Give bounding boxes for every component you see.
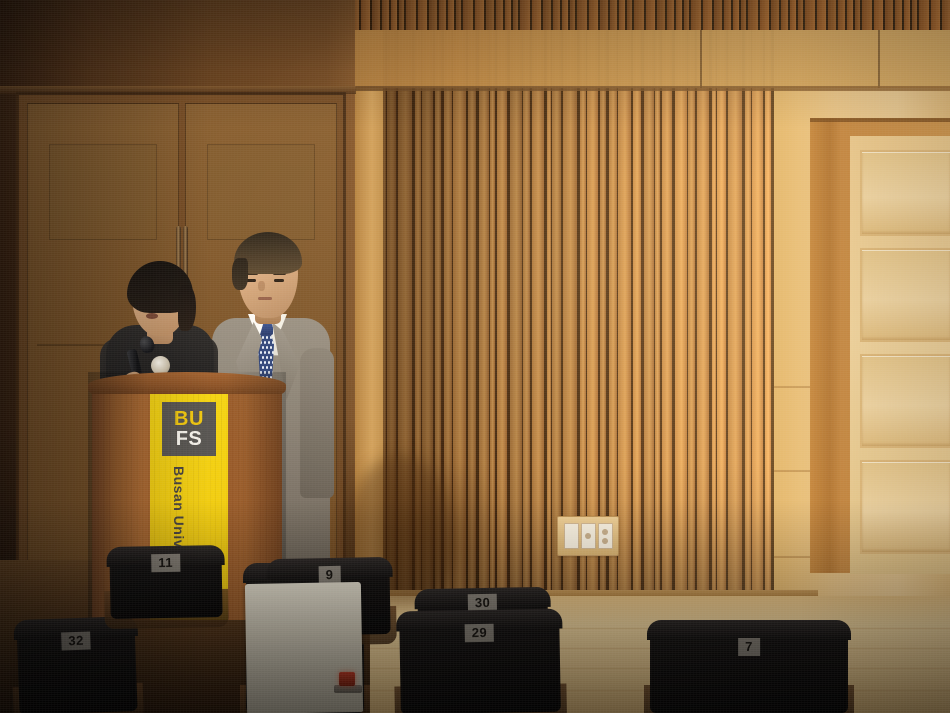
seat-32[interactable]: 32 (16, 618, 137, 713)
right-door-frame (810, 118, 950, 573)
logo-text-bu: BU (174, 409, 204, 429)
door-panel-2 (860, 248, 950, 342)
red-indicator-light (339, 672, 355, 686)
man-eye-right (274, 279, 284, 282)
paper-on-seat (245, 582, 363, 713)
woman-hair-side (178, 285, 196, 331)
woman-mouth (146, 313, 158, 319)
seat-number-plate: 32 (61, 632, 91, 651)
man-sideburn (232, 258, 248, 290)
man-right-arm (300, 348, 334, 498)
light-switch-icon[interactable] (581, 523, 596, 549)
door-panel-4 (860, 460, 950, 554)
man-mouth (258, 297, 272, 300)
socket-hole (602, 529, 608, 535)
device-base (334, 685, 362, 693)
seat-29[interactable]: 29 (399, 611, 561, 713)
door-panel-3 (860, 354, 950, 448)
door-upper-panel (207, 144, 315, 240)
power-socket-icon[interactable] (598, 523, 613, 549)
auditorium-photo: BU FS Busan Universit 321110930297 (0, 0, 950, 713)
seat-number-plate: 11 (151, 554, 180, 573)
socket-hole (602, 538, 608, 544)
seat-7[interactable]: 7 (650, 622, 848, 713)
seat-number-plate: 7 (738, 638, 760, 656)
door-panel-1 (860, 150, 950, 236)
man-nose (258, 281, 265, 291)
right-door[interactable] (850, 136, 950, 574)
band-seam (700, 30, 702, 88)
seat-11[interactable]: 11 (109, 547, 222, 619)
light-switch-icon[interactable] (564, 523, 579, 549)
door-upper-panel (49, 144, 157, 240)
seat-headrest-rim (647, 620, 851, 640)
switch-dot (585, 533, 591, 539)
wall-outlet-plate[interactable] (557, 516, 619, 556)
seat-number-plate: 29 (465, 624, 495, 643)
band-seam (878, 30, 880, 88)
